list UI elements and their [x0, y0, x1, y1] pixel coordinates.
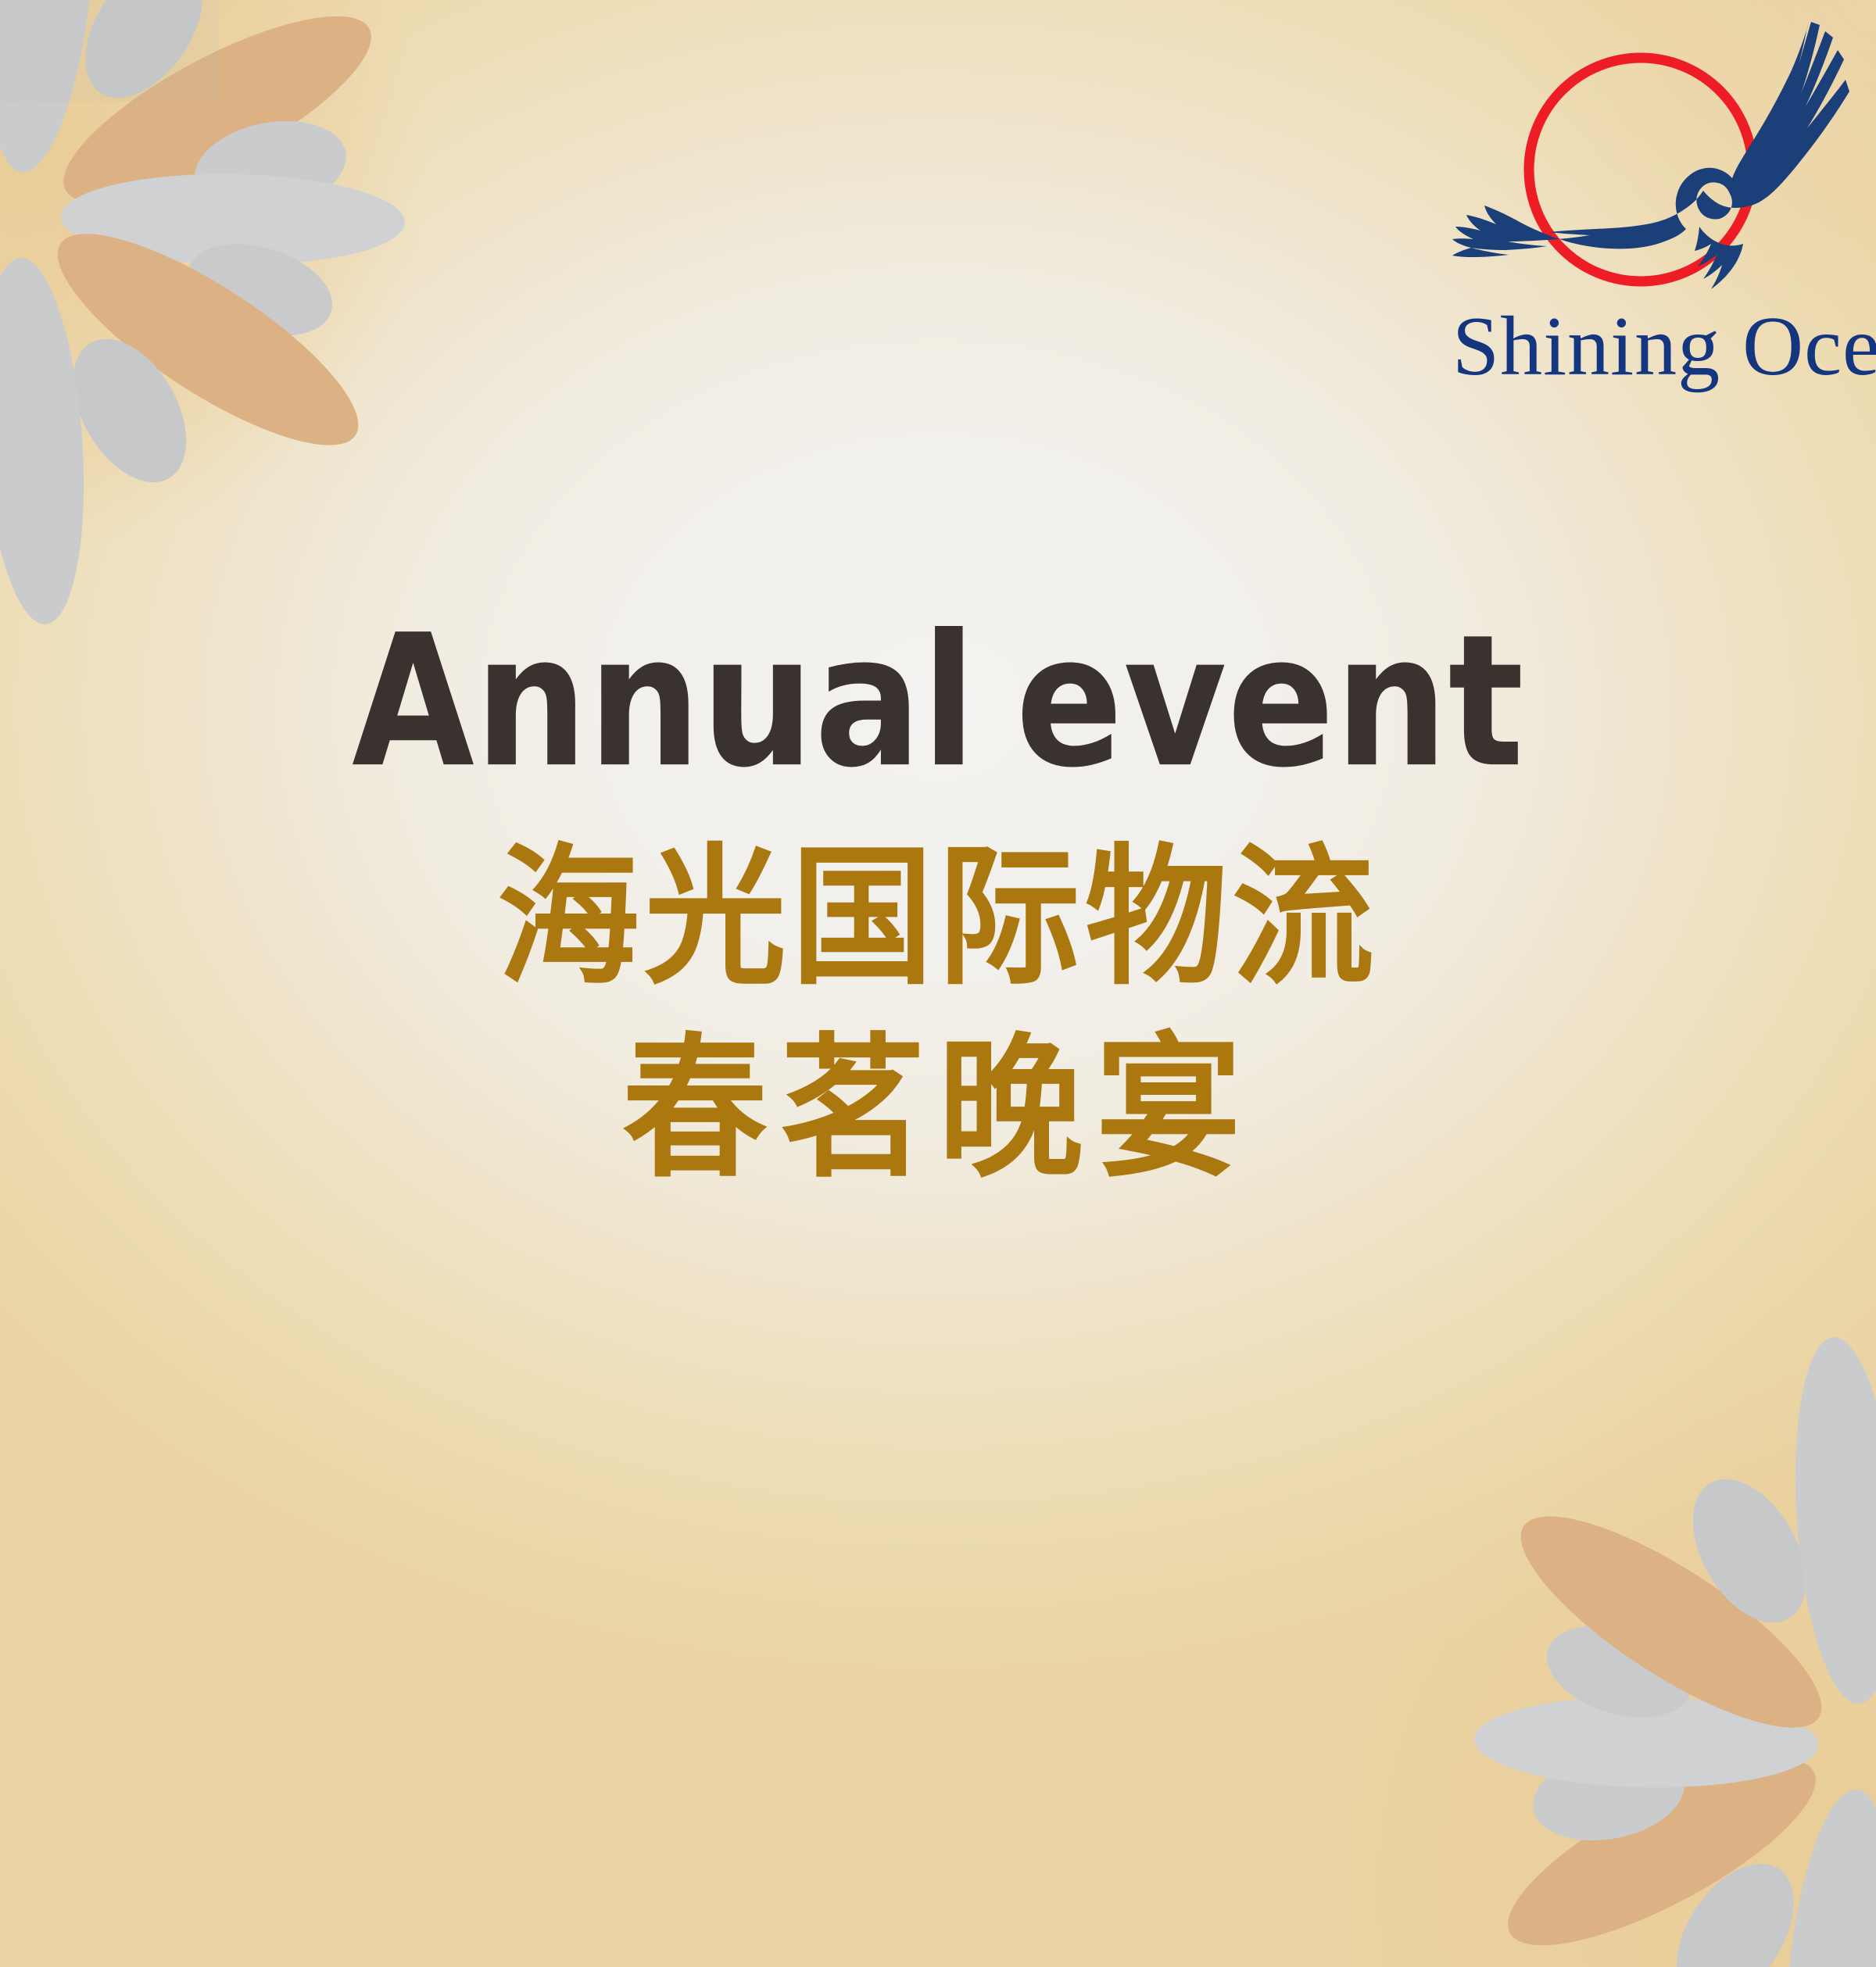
logo-wordmark: Shining Ocean — [1452, 305, 1859, 389]
shining-ocean-logo: Shining Ocean — [1452, 17, 1859, 400]
eagle-logo-icon — [1452, 17, 1859, 306]
chinese-subtitle-line-1: 海光国际物流 — [0, 841, 1876, 995]
page-title: Annualevent — [66, 611, 1810, 793]
chinese-subtitle-line-2: 春茗晚宴 — [0, 1030, 1876, 1187]
title-word: Annual — [352, 596, 976, 808]
poster-canvas: Shining Ocean Annualevent 海光国际物流 春茗晚宴 — [0, 0, 1876, 1967]
title-word: event — [1015, 596, 1524, 808]
headline-block: Annualevent 海光国际物流 春茗晚宴 — [0, 617, 1876, 1182]
